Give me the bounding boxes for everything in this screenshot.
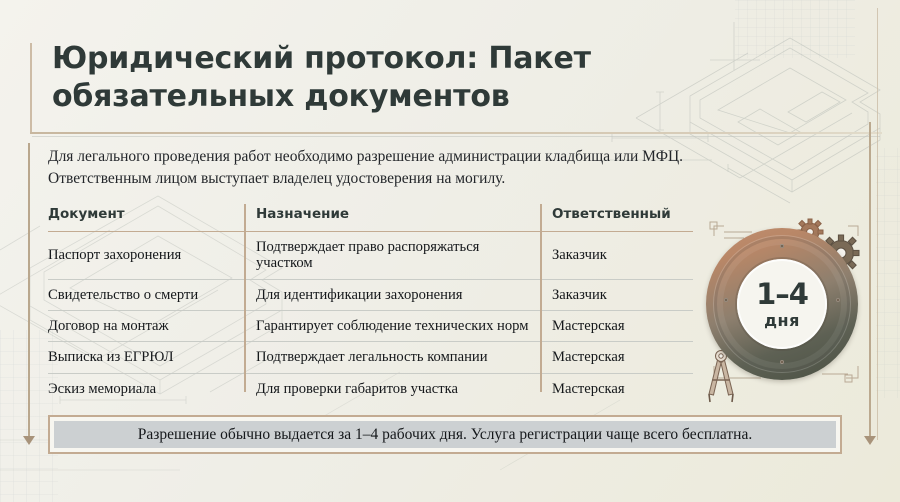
summary-banner: Разрешение обычно выдается за 1–4 рабочи… <box>48 415 842 454</box>
right-arrow-icon <box>864 436 876 445</box>
cell-responsible: Заказчик <box>540 279 693 310</box>
cell-document: Договор на монтаж <box>48 311 244 342</box>
summary-banner-text: Разрешение обычно выдается за 1–4 рабочи… <box>50 426 840 444</box>
table-row: Эскиз мемориала Для проверки габаритов у… <box>48 373 693 404</box>
cell-document: Выписка из ЕГРЮЛ <box>48 342 244 373</box>
cell-responsible: Заказчик <box>540 232 693 280</box>
column-header-purpose: Назначение <box>244 202 540 232</box>
badge-value: 1–4 <box>756 280 808 309</box>
column-divider-2 <box>540 204 542 392</box>
table-row: Паспорт захоронения Подтверждает право р… <box>48 232 693 280</box>
cell-document: Эскиз мемориала <box>48 373 244 404</box>
cell-responsible: Мастерская <box>540 342 693 373</box>
body-left-arrow-icon <box>23 436 35 445</box>
cell-purpose: Для идентификации захоронения <box>244 279 540 310</box>
slide-root: Юридический протокол: Пакет обязательных… <box>0 0 900 502</box>
intro-paragraph: Для легального проведения работ необходи… <box>48 146 858 191</box>
table-row: Свидетельство о смерти Для идентификации… <box>48 279 693 310</box>
badge-ring-icon: 1–4 дня <box>706 228 858 380</box>
column-divider-1 <box>244 204 246 392</box>
badge-unit: дня <box>764 313 800 329</box>
intro-line-2: Ответственным лицом выступает владелец у… <box>48 168 858 190</box>
cell-responsible: Мастерская <box>540 311 693 342</box>
header-divider <box>30 132 882 134</box>
column-header-document: Документ <box>48 202 244 232</box>
page-title: Юридический протокол: Пакет обязательных… <box>52 40 612 117</box>
documents-table: Документ Назначение Ответственный Паспор… <box>48 202 693 404</box>
title-accent-rule <box>30 43 32 133</box>
cell-purpose: Подтверждает право распоряжаться участко… <box>244 232 540 280</box>
cell-purpose: Подтверждает легальность компании <box>244 342 540 373</box>
table-header-row: Документ Назначение Ответственный <box>48 202 693 232</box>
header-divider-shadow <box>32 136 880 137</box>
intro-line-1: Для легального проведения работ необходи… <box>48 146 858 168</box>
cell-document: Паспорт захоронения <box>48 232 244 280</box>
column-header-responsible: Ответственный <box>540 202 693 232</box>
cell-responsible: Мастерская <box>540 373 693 404</box>
duration-badge: 1–4 дня <box>693 208 883 408</box>
body-left-guide <box>28 143 30 440</box>
cell-document: Свидетельство о смерти <box>48 279 244 310</box>
badge-center: 1–4 дня <box>737 259 827 349</box>
table-row: Выписка из ЕГРЮЛ Подтверждает легальност… <box>48 342 693 373</box>
table-row: Договор на монтаж Гарантирует соблюдение… <box>48 311 693 342</box>
cell-purpose: Гарантирует соблюдение технических норм <box>244 311 540 342</box>
cell-purpose: Для проверки габаритов участка <box>244 373 540 404</box>
